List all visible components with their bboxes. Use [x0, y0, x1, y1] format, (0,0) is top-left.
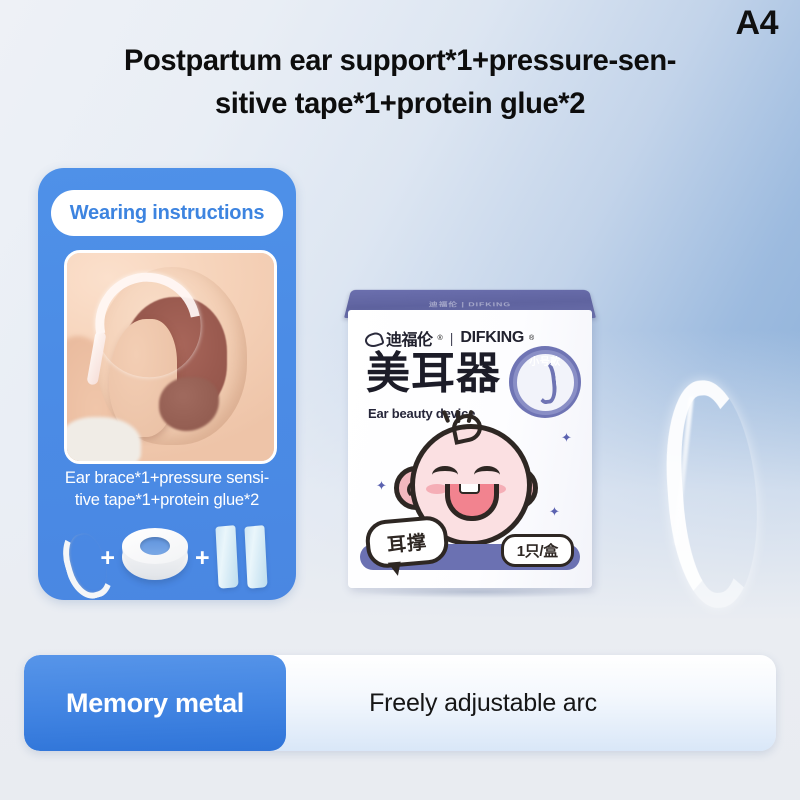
- clear-ear-brace-product: [668, 380, 730, 588]
- tape-roll-icon: [122, 528, 188, 586]
- wearing-instructions-badge: Wearing instructions: [51, 190, 283, 236]
- glue-strip-1: [215, 525, 238, 589]
- corner-label-a4: A4: [736, 6, 778, 40]
- feature-banner: Memory metal Freely adjustable arc: [24, 655, 776, 751]
- brand-logo-icon: [365, 331, 381, 345]
- box-tag-bubble: 耳撑: [364, 515, 450, 570]
- product-box: 迪福伦 | DIFKING 迪福伦 ® | DIFKING ® 美耳器 Ear …: [344, 282, 596, 590]
- feature-description: Freely adjustable arc: [286, 655, 776, 751]
- page-title-line-2: sitive tape*1+protein glue*2: [12, 83, 788, 126]
- product-marketing-image: A4 Postpartum ear support*1+pressure-sen…: [0, 0, 800, 800]
- glue-strip-2: [244, 525, 267, 589]
- plus-symbol-2: +: [195, 546, 210, 571]
- brand-separator: |: [450, 330, 454, 346]
- page-title: Postpartum ear support*1+pressure-sen- s…: [12, 40, 788, 125]
- ear-brace-icon: [61, 525, 93, 589]
- wearing-instructions-card: Wearing instructions Ear brace*1+pressur…: [38, 168, 296, 600]
- box-brand-row: 迪福伦 ® | DIFKING ®: [365, 326, 534, 350]
- cartoon-eye-left: [432, 466, 458, 484]
- kit-caption-line-2: tive tape*1+protein glue*2: [52, 490, 282, 512]
- box-quantity-badge: 1只/盒: [501, 534, 574, 567]
- baby-ear-photo: [64, 250, 277, 464]
- sparkle-icon-2: ✦: [549, 506, 560, 517]
- sparkle-icon-3: ✦: [561, 432, 572, 443]
- brand-name-en: DIFKING: [460, 329, 524, 347]
- kit-contents-caption: Ear brace*1+pressure sensi- tive tape*1+…: [52, 468, 282, 512]
- product-box-front-face: 迪福伦 ® | DIFKING ® 美耳器 Ear beauty device …: [348, 310, 592, 588]
- brand-registered-mark-cn: ®: [438, 335, 443, 342]
- size-variant-badge: 小号款: [509, 346, 581, 418]
- photo-background-cloth: [64, 417, 141, 464]
- kit-caption-line-1: Ear brace*1+pressure sensi-: [52, 468, 282, 490]
- cartoon-teeth: [459, 484, 480, 494]
- box-title-cn: 美耳器: [366, 352, 501, 396]
- glue-strips-icon: [217, 526, 273, 588]
- brand-name-cn: 迪福伦: [386, 326, 433, 350]
- tape-hole: [140, 537, 170, 555]
- feature-tag-label: Memory metal: [24, 655, 286, 751]
- kit-contents-icons: + +: [54, 520, 280, 594]
- page-title-line-1: Postpartum ear support*1+pressure-sen-: [12, 40, 788, 83]
- box-lid-brand-text: 迪福伦 | DIFKING: [429, 299, 512, 307]
- sparkle-icon-1: ✦: [376, 480, 387, 491]
- clear-brace-body: [660, 377, 764, 611]
- cartoon-eye-right: [474, 466, 500, 484]
- size-badge-label: 小号款: [509, 353, 581, 368]
- brand-registered-mark-en: ®: [529, 335, 534, 342]
